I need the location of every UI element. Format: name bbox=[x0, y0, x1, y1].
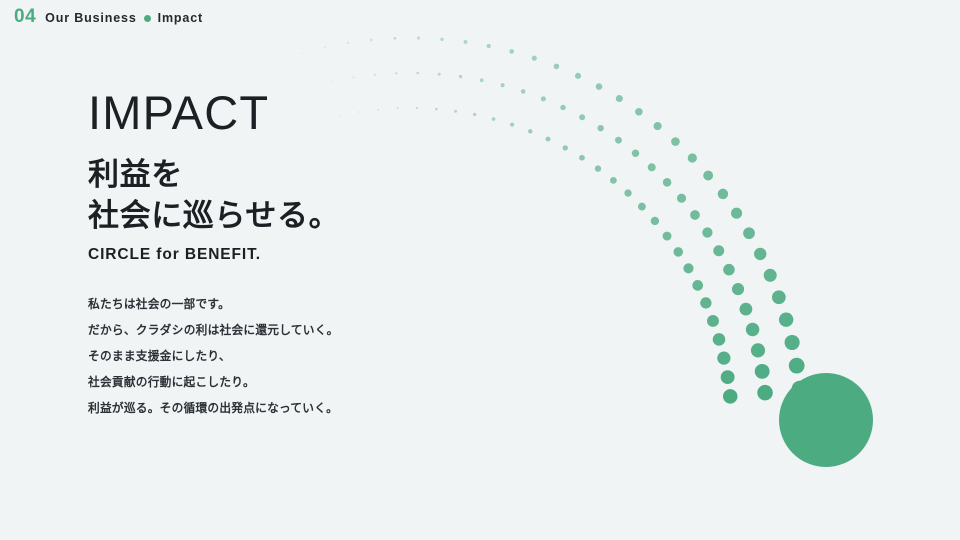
arc-dot bbox=[673, 247, 683, 257]
breadcrumb-section: Our Business bbox=[45, 12, 136, 25]
arc-dot bbox=[764, 269, 777, 282]
breadcrumb: 04 Our Business Impact bbox=[14, 7, 203, 26]
arc-dot bbox=[347, 42, 349, 44]
arc-dot bbox=[575, 73, 581, 79]
body-line: そのまま支援金にしたり、 bbox=[88, 344, 488, 370]
arc-dot bbox=[563, 145, 568, 150]
arc-dot bbox=[521, 89, 526, 94]
arc-dot bbox=[393, 37, 396, 40]
arc-dot bbox=[743, 227, 755, 239]
arc-dot bbox=[480, 78, 484, 82]
body-line: だから、クラダシの利は社会に還元していく。 bbox=[88, 318, 488, 344]
arc-dot bbox=[595, 165, 601, 171]
arc-dot bbox=[707, 315, 719, 327]
breadcrumb-trail: Our Business Impact bbox=[45, 12, 203, 25]
arc-dot bbox=[654, 122, 662, 130]
body-line: 利益が巡る。その循環の出発点になっていく。 bbox=[88, 396, 488, 422]
arc-dot bbox=[700, 297, 711, 308]
arc-dot bbox=[772, 290, 786, 304]
body-line: 私たちは社会の一部です。 bbox=[88, 292, 488, 318]
arc-dot bbox=[332, 81, 334, 83]
content-column: IMPACT 利益を 社会に巡らせる。 CIRCLE for BENEFIT. … bbox=[88, 88, 488, 422]
arc-dot bbox=[370, 39, 373, 42]
arc-dot bbox=[717, 352, 730, 365]
body-line: 社会貢献の行動に起こしたり。 bbox=[88, 370, 488, 396]
arc-dot bbox=[703, 171, 713, 181]
slide-impact: 04 Our Business Impact IMPACT 利益を 社会に巡らせ… bbox=[0, 0, 960, 540]
breadcrumb-page: Impact bbox=[158, 12, 203, 25]
arc-dot bbox=[579, 155, 585, 161]
arc-dot bbox=[632, 150, 639, 157]
arc-dot bbox=[779, 312, 793, 326]
arc-dot bbox=[624, 189, 631, 196]
arc-dot bbox=[721, 370, 735, 384]
arc-dot bbox=[635, 108, 643, 116]
arc-dot bbox=[723, 264, 735, 276]
arc-dot bbox=[438, 73, 441, 76]
arc-dot bbox=[755, 364, 770, 379]
arc-dot bbox=[510, 123, 514, 127]
arc-dot bbox=[692, 280, 703, 291]
arc-dot bbox=[757, 385, 773, 401]
headline-line: 社会に巡らせる。 bbox=[88, 195, 488, 237]
tagline: CIRCLE for BENEFIT. bbox=[88, 247, 488, 263]
arc-dot bbox=[353, 77, 355, 79]
arc-dot bbox=[374, 74, 376, 76]
arc-dot bbox=[597, 125, 603, 131]
arc-dot bbox=[616, 95, 623, 102]
arc-dot bbox=[740, 303, 753, 316]
arc-dot bbox=[663, 178, 672, 187]
body-copy: 私たちは社会の一部です。 だから、クラダシの利は社会に還元していく。 そのまま支… bbox=[88, 292, 488, 422]
headline-japanese: 利益を 社会に巡らせる。 bbox=[88, 154, 488, 237]
hero-circle bbox=[779, 373, 873, 467]
arc-dot bbox=[688, 153, 697, 162]
arc-dot bbox=[677, 194, 686, 203]
arc-dot bbox=[702, 227, 712, 237]
arc-dot bbox=[579, 114, 585, 120]
arc-dot bbox=[615, 137, 622, 144]
arc-dot bbox=[532, 56, 537, 61]
arc-dot bbox=[459, 75, 462, 78]
arc-dot bbox=[754, 248, 766, 260]
arc-dot bbox=[638, 203, 646, 211]
headline-line: 利益を bbox=[88, 154, 488, 196]
arc-dot bbox=[541, 96, 546, 101]
arc-dot bbox=[509, 49, 514, 54]
arc-dot bbox=[546, 137, 551, 142]
arc-dot bbox=[746, 323, 759, 336]
arc-dot bbox=[792, 381, 809, 398]
page-title: IMPACT bbox=[88, 88, 488, 138]
arc-dot bbox=[663, 232, 672, 241]
arc-dot bbox=[718, 189, 728, 199]
arc-dot bbox=[528, 129, 532, 133]
arc-dot bbox=[560, 105, 565, 110]
arc-dot bbox=[596, 83, 603, 90]
arc-dot bbox=[554, 64, 560, 70]
arc-dot bbox=[610, 177, 617, 184]
arc-dot bbox=[440, 38, 443, 41]
arc-dot bbox=[492, 117, 496, 121]
section-number: 04 bbox=[14, 7, 36, 26]
arc-dot bbox=[651, 217, 659, 225]
arc-dot bbox=[487, 44, 491, 48]
arc-dot bbox=[751, 343, 765, 357]
arc-dot bbox=[648, 163, 656, 171]
arc-dot bbox=[324, 46, 326, 48]
arc-dot bbox=[301, 52, 303, 54]
arc-dot bbox=[690, 210, 700, 220]
arc-dot bbox=[713, 333, 726, 346]
arc-dot bbox=[731, 208, 742, 219]
arc-dot bbox=[501, 83, 505, 87]
arc-dot bbox=[789, 358, 805, 374]
bullet-dot-icon bbox=[144, 15, 151, 22]
arc-dot bbox=[416, 72, 419, 75]
arc-dot bbox=[395, 72, 397, 74]
arc-dot bbox=[683, 263, 693, 273]
arc-dot bbox=[723, 389, 738, 404]
arc-dot bbox=[713, 245, 724, 256]
arc-dot bbox=[464, 40, 468, 44]
arc-dot bbox=[417, 37, 420, 40]
arc-dot bbox=[732, 283, 744, 295]
arc-dot bbox=[785, 335, 800, 350]
arc-dot bbox=[671, 137, 680, 146]
